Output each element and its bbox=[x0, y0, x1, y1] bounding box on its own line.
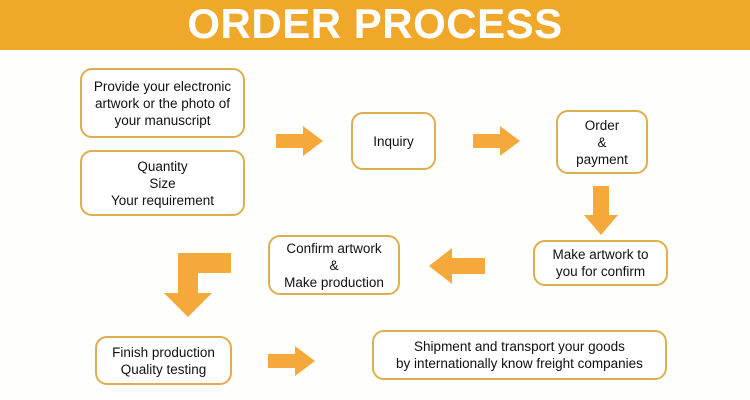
arrow-elbow-down-to-finish-production-icon bbox=[160, 253, 232, 318]
flow-box-order-payment: Order & payment bbox=[556, 110, 648, 174]
arrow-right-to-inquiry-icon bbox=[276, 125, 324, 157]
flow-box-confirm-artwork: Confirm artwork & Make production bbox=[268, 235, 400, 295]
arrow-left-to-confirm-artwork-icon bbox=[428, 247, 486, 285]
page-title: ORDER PROCESS bbox=[0, 0, 750, 50]
flow-box-provide-artwork: Provide your electronic artwork or the p… bbox=[80, 68, 245, 138]
flow-box-finish-production: Finish production Quality testing bbox=[95, 336, 232, 385]
flow-box-shipment: Shipment and transport your goods by int… bbox=[372, 330, 667, 380]
flow-box-make-artwork-label: Make artwork to you for confirm bbox=[535, 246, 666, 280]
flow-box-order-payment-label: Order & payment bbox=[558, 117, 646, 168]
flow-box-make-artwork: Make artwork to you for confirm bbox=[533, 240, 668, 286]
header-banner: ORDER PROCESS bbox=[0, 0, 750, 50]
arrow-right-to-shipment-icon bbox=[268, 345, 316, 377]
flow-box-quantity-size: Quantity Size Your requirement bbox=[80, 150, 245, 216]
flow-box-inquiry-label: Inquiry bbox=[353, 133, 434, 150]
flow-box-finish-production-label: Finish production Quality testing bbox=[97, 344, 230, 378]
flowchart-canvas: ORDER PROCESS Provide your electronic ar… bbox=[0, 0, 750, 400]
arrow-down-to-make-artwork-icon bbox=[583, 186, 619, 236]
flow-box-confirm-artwork-label: Confirm artwork & Make production bbox=[270, 240, 398, 291]
flow-box-shipment-label: Shipment and transport your goods by int… bbox=[374, 338, 665, 372]
flow-box-quantity-size-label: Quantity Size Your requirement bbox=[82, 158, 243, 209]
flow-box-provide-artwork-label: Provide your electronic artwork or the p… bbox=[82, 78, 243, 129]
arrow-right-to-order-icon bbox=[473, 125, 521, 157]
flow-box-inquiry: Inquiry bbox=[351, 112, 436, 170]
